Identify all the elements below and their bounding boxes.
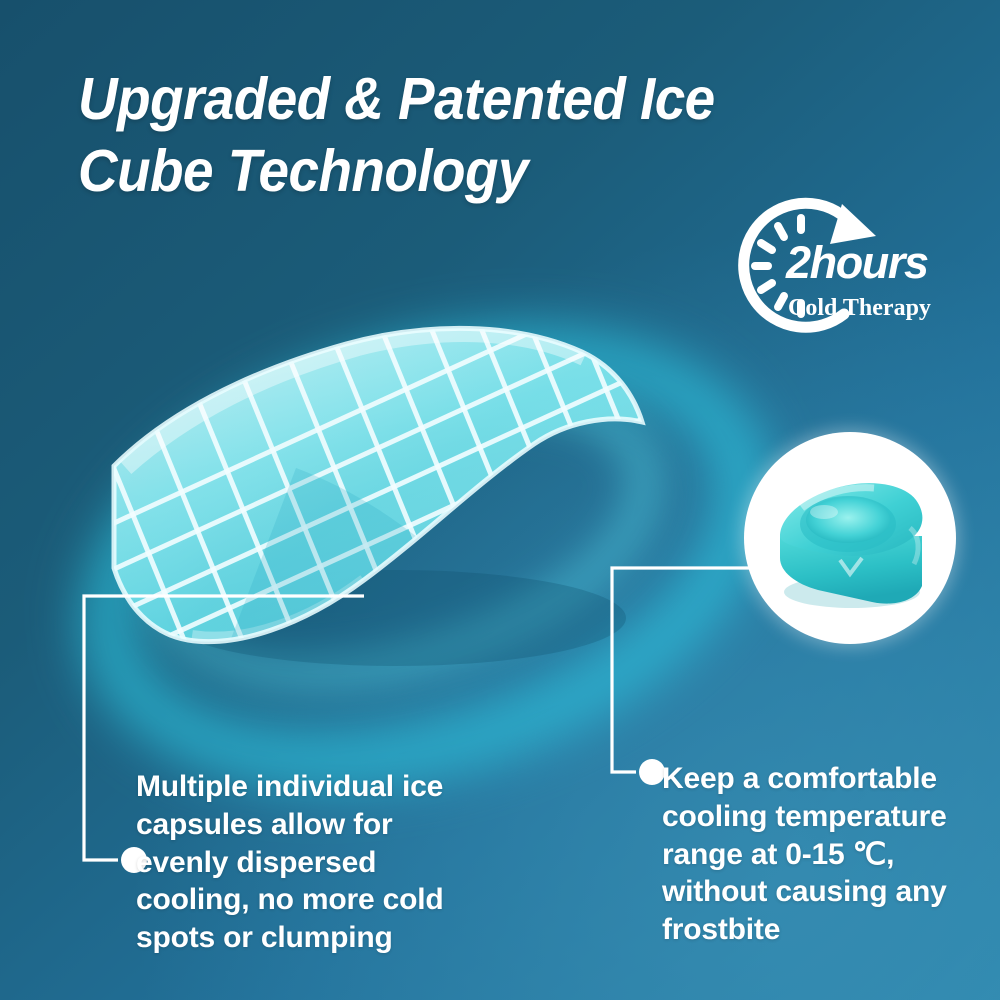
single-ice-capsule-icon <box>744 432 956 644</box>
ice-capsule-inset <box>744 432 956 644</box>
callout-text-right: Keep a comfortable cooling temperature r… <box>662 760 982 949</box>
callout-text-left: Multiple individual ice capsules allow f… <box>136 768 466 957</box>
cold-therapy-badge: 2hours Cold Therapy <box>726 186 964 354</box>
product-feature-graphic: Upgraded & Patented Ice Cube Technology … <box>0 0 1000 1000</box>
badge-hours-label: 2hours <box>786 240 928 285</box>
badge-subtitle-label: Cold Therapy <box>788 296 931 320</box>
